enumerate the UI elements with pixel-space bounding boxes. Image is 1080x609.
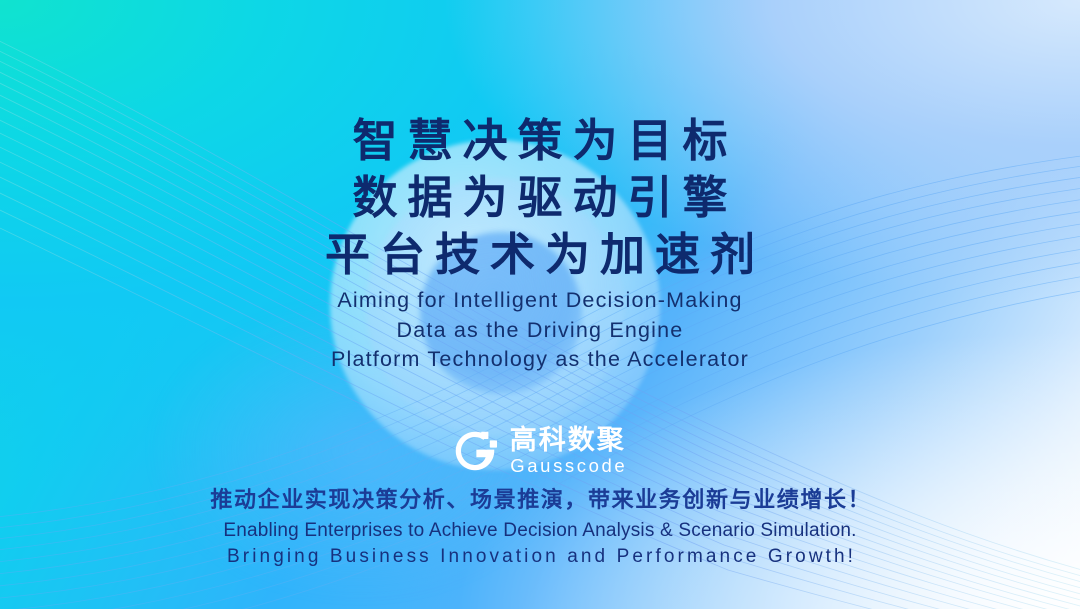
brand-name-cn: 高科数聚 — [508, 427, 628, 454]
subheadline-line-1: Aiming for Intelligent Decision-Making — [0, 286, 1080, 316]
tagline-english: Enabling Enterprises to Achieve Decision… — [0, 518, 1080, 570]
banner-content: 智慧决策为目标 数据为驱动引擎 平台技术为加速剂 Aiming for Inte… — [0, 0, 1080, 609]
subheadline-line-3: Platform Technology as the Accelerator — [0, 345, 1080, 375]
tagline-english-line-2: Bringing Business Innovation and Perform… — [0, 544, 1080, 570]
headline-line-3: 平台技术为加速剂 — [0, 226, 1080, 283]
headline-line-2: 数据为驱动引擎 — [0, 169, 1080, 226]
banner-stage: 智慧决策为目标 数据为驱动引擎 平台技术为加速剂 Aiming for Inte… — [0, 0, 1080, 609]
gausscode-logo-mark — [453, 429, 497, 473]
subheadline: Aiming for Intelligent Decision-Making D… — [0, 286, 1080, 375]
headline: 智慧决策为目标 数据为驱动引擎 平台技术为加速剂 — [0, 112, 1080, 283]
headline-line-1: 智慧决策为目标 — [0, 112, 1080, 169]
brand-logo: 高科数聚 Gausscode — [0, 427, 1080, 476]
brand-name-en: Gausscode — [508, 457, 628, 476]
tagline-english-line-1: Enabling Enterprises to Achieve Decision… — [0, 518, 1080, 544]
subheadline-line-2: Data as the Driving Engine — [0, 316, 1080, 346]
tagline-chinese: 推动企业实现决策分析、场景推演，带来业务创新与业绩增长！ — [0, 482, 1080, 514]
brand-logo-text: 高科数聚 Gausscode — [508, 427, 628, 476]
